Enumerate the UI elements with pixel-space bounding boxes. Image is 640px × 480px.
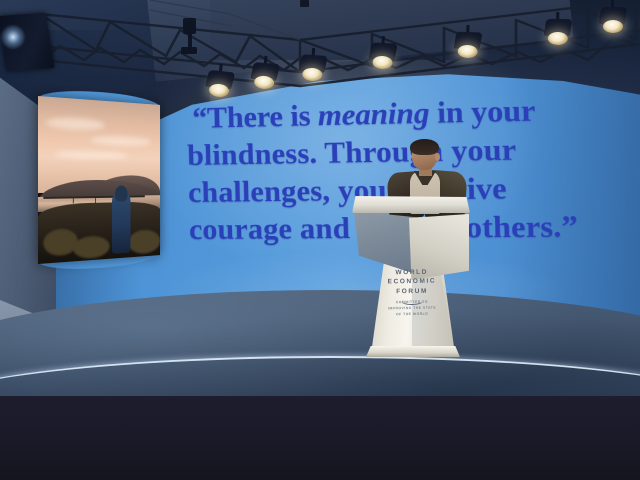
quote-line-1-part-b: in your xyxy=(429,93,536,130)
quote-line-1-part-a: “There is xyxy=(192,99,318,135)
podium-face-left xyxy=(354,211,416,273)
spotlight-fixture xyxy=(299,47,327,83)
stage-photo-scene: “There is meaning in your blindness. Thr… xyxy=(0,0,640,480)
pa-speaker xyxy=(0,13,54,72)
podium: WORLD ECONOMIC FORUM COMMITTED TO IMPROV… xyxy=(352,196,470,358)
venue-floor xyxy=(0,396,640,480)
podium-lectern-top xyxy=(352,196,470,213)
spotlight-fixture xyxy=(369,35,397,70)
wef-logo-line-2: ECONOMIC xyxy=(382,277,442,287)
speaker-ear xyxy=(435,153,440,161)
quote-line-1-italic: meaning xyxy=(317,96,429,132)
quote-line-1: “There is meaning in your xyxy=(192,93,629,134)
wef-tagline-line-3: OF THE WORLD xyxy=(380,311,444,318)
spotlight-fixture xyxy=(205,63,234,100)
spotlight-fixture xyxy=(545,12,572,46)
photo-person-hood xyxy=(115,185,127,201)
sunset-landscape-photo xyxy=(38,96,160,264)
screen-photo-panel xyxy=(38,96,160,264)
spotlight-fixture xyxy=(251,55,280,91)
spotlight-fixture xyxy=(600,0,626,34)
wef-tagline: COMMITTED TO IMPROVING THE STATE OF THE … xyxy=(380,299,444,317)
wef-logo-line-3: FORUM xyxy=(382,286,442,296)
photo-bridge-pier xyxy=(95,196,96,202)
spotlight-fixture xyxy=(454,25,481,60)
photo-bridge-pier xyxy=(72,196,73,203)
speaker-hair xyxy=(410,139,439,155)
podium-base xyxy=(366,346,460,357)
